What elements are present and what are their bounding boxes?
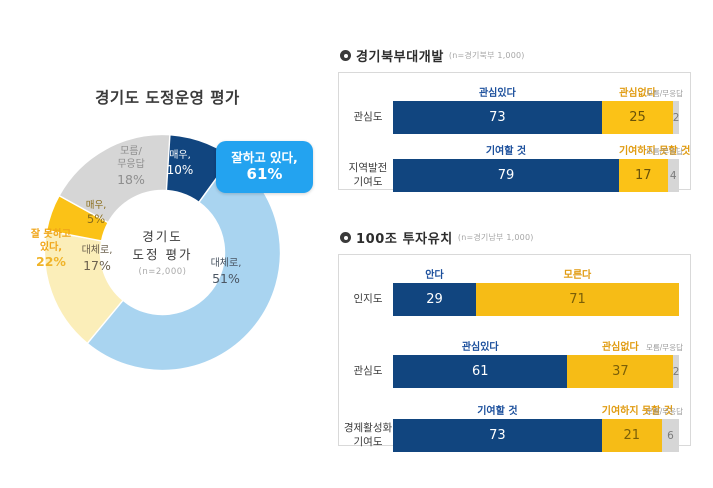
- bar-caption-dontknow: 모름/무응답: [646, 342, 683, 353]
- panel-header: 100조 투자유치 (n=경기남부 1,000): [338, 228, 691, 247]
- panel-title: 100조 투자유치: [356, 228, 453, 247]
- bar-row-label: 관심도: [343, 355, 393, 388]
- bar-segment: 2: [673, 101, 679, 134]
- bar-row: 경제활성화기여도73216기여할 것기여하지 못할 것모름/무응답: [339, 419, 690, 452]
- bar-track: 73252관심있다관심없다모름/무응답: [393, 101, 679, 134]
- panel-sample-size: (n=경기남부 1,000): [458, 232, 534, 244]
- page-title: 경기도 도정운영 평가: [0, 86, 335, 108]
- bar-segment: 37: [567, 355, 673, 388]
- bar-segment: 21: [602, 419, 662, 452]
- bar-caption: 관심있다: [393, 84, 602, 99]
- bar-row-label: 경제활성화기여도: [343, 419, 393, 452]
- bar-caption-dontknow: 모름/무응답: [646, 406, 683, 417]
- bar-segment: 79: [393, 159, 619, 192]
- bar-segment: 6: [662, 419, 679, 452]
- bar-track: 61372관심있다관심없다모름/무응답: [393, 355, 679, 388]
- panel-body: 관심도73252관심있다관심없다모름/무응답지역발전기여도79174기여할 것기…: [338, 72, 691, 190]
- callout-value: 61%: [247, 165, 283, 184]
- panel-body: 인지도2971안다모른다관심도61372관심있다관심없다모름/무응답경제활성화기…: [338, 254, 691, 446]
- bullet-icon: [340, 232, 351, 243]
- bar-segment: 25: [602, 101, 674, 134]
- bar-track: 73216기여할 것기여하지 못할 것모름/무응답: [393, 419, 679, 452]
- bar-caption: 관심있다: [393, 338, 567, 353]
- bar-caption: 안다: [393, 266, 476, 281]
- bar-caption: 모른다: [476, 266, 679, 281]
- donut-chart-panel: 경기도 도정운영 평가 경기도 도정 평가 (n=2,000) 매우, 10% …: [0, 0, 335, 488]
- positive-summary-callout: 잘하고 있다, 61%: [216, 141, 313, 193]
- bar-caption-dontknow: 모름/무응답: [646, 146, 683, 157]
- bar-track: 2971안다모른다: [393, 283, 679, 316]
- bar-segment: 4: [668, 159, 679, 192]
- bar-segment: 29: [393, 283, 476, 316]
- bar-segment: 71: [476, 283, 679, 316]
- bar-row-label: 인지도: [343, 283, 393, 316]
- bar-row: 지역발전기여도79174기여할 것기여하지 못할 것모름/무응답: [339, 159, 690, 192]
- bar-track: 79174기여할 것기여하지 못할 것모름/무응답: [393, 159, 679, 192]
- callout-text: 잘하고 있다,: [231, 150, 298, 166]
- bar-segment: 2: [673, 355, 679, 388]
- panel-title: 경기북부대개발: [356, 46, 444, 65]
- bar-row-label: 지역발전기여도: [343, 159, 393, 192]
- panel-header: 경기북부대개발 (n=경기북부 1,000): [338, 46, 691, 65]
- bar-segment: 61: [393, 355, 567, 388]
- bar-row-label: 관심도: [343, 101, 393, 134]
- bar-caption: 기여할 것: [393, 402, 602, 417]
- bar-caption-dontknow: 모름/무응답: [646, 88, 683, 99]
- bar-caption: 기여할 것: [393, 142, 619, 157]
- bar-segment: 73: [393, 101, 602, 134]
- bar-row: 관심도61372관심있다관심없다모름/무응답: [339, 355, 690, 388]
- bar-chart-panel-north-development: 경기북부대개발 (n=경기북부 1,000) 관심도73252관심있다관심없다모…: [338, 46, 691, 190]
- bar-segment: 17: [619, 159, 668, 192]
- bar-row: 관심도73252관심있다관심없다모름/무응답: [339, 101, 690, 134]
- bar-chart-panel-investment: 100조 투자유치 (n=경기남부 1,000) 인지도2971안다모른다관심도…: [338, 228, 691, 446]
- bar-segment: 73: [393, 419, 602, 452]
- bullet-icon: [340, 50, 351, 61]
- panel-sample-size: (n=경기북부 1,000): [449, 50, 525, 62]
- bar-row: 인지도2971안다모른다: [339, 283, 690, 316]
